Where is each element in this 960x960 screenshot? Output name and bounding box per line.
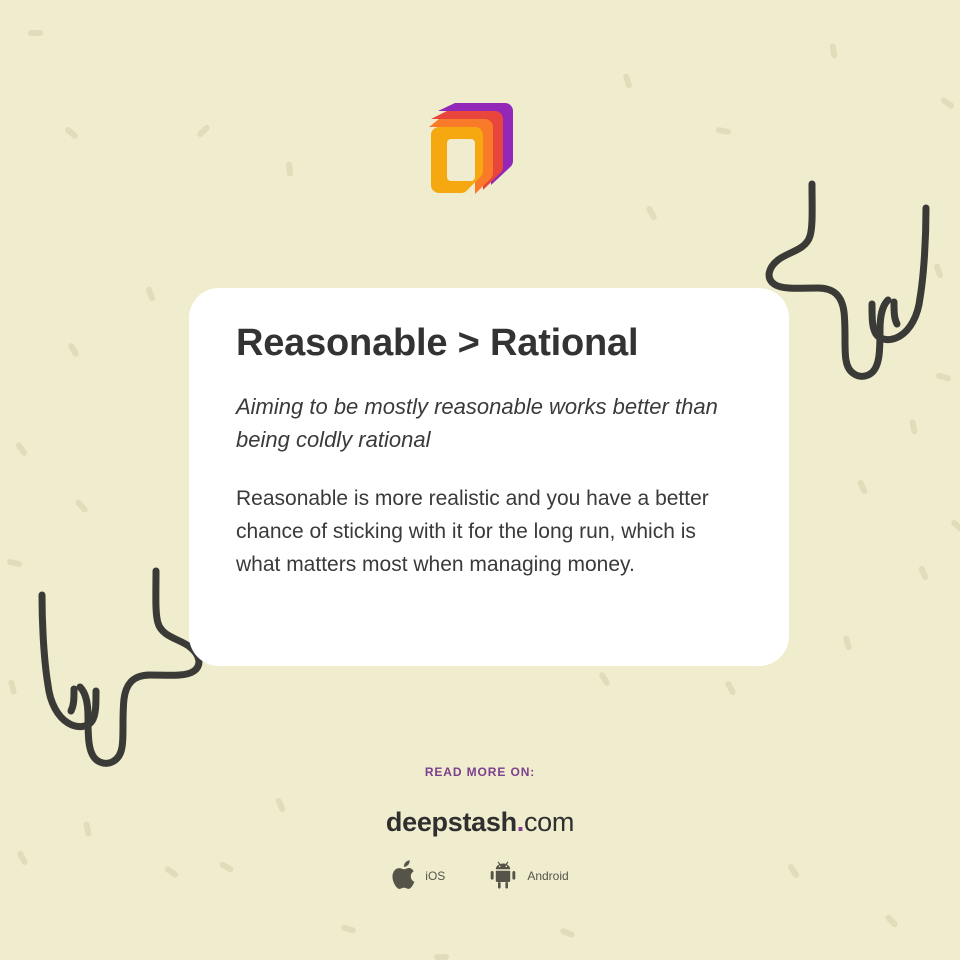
android-label: Android: [527, 869, 568, 883]
background-speck: [843, 635, 853, 651]
pointing-hand-outline-icon: [28, 565, 208, 777]
android-icon: [487, 860, 519, 892]
background-speck: [857, 479, 869, 495]
background-speck: [645, 205, 658, 221]
footer: READ MORE ON: deepstash.com iOS: [0, 765, 960, 892]
background-speck: [286, 161, 293, 176]
background-speck: [434, 954, 449, 960]
android-store-badge[interactable]: Android: [487, 860, 568, 892]
background-speck: [884, 914, 899, 929]
background-speck: [933, 263, 944, 279]
apple-icon: [391, 860, 417, 892]
background-speck: [909, 419, 918, 435]
background-speck: [918, 565, 929, 581]
deepstash-wordmark[interactable]: deepstash.com: [0, 807, 960, 838]
background-speck: [7, 559, 23, 568]
idea-card: Reasonable > Rational Aiming to be mostl…: [189, 288, 789, 666]
background-speck: [64, 126, 79, 140]
background-speck: [716, 127, 732, 136]
background-speck: [74, 498, 88, 513]
background-speck: [15, 441, 29, 457]
background-speck: [196, 124, 211, 139]
deepstash-logo: [429, 103, 515, 197]
background-speck: [28, 30, 43, 36]
ios-label: iOS: [425, 869, 445, 883]
background-speck: [340, 924, 356, 934]
wordmark-tld: com: [524, 807, 574, 837]
background-speck: [940, 96, 956, 110]
card-subtitle: Aiming to be mostly reasonable works bet…: [236, 390, 726, 456]
ios-store-badge[interactable]: iOS: [391, 860, 445, 892]
card-title: Reasonable > Rational: [236, 322, 742, 366]
store-badges: iOS An: [0, 860, 960, 892]
background-speck: [950, 519, 960, 533]
background-speck: [8, 679, 18, 695]
background-speck: [829, 43, 838, 59]
background-speck: [935, 372, 951, 382]
background-speck: [67, 342, 80, 358]
wordmark-name: deepstash: [386, 807, 517, 837]
background-speck: [598, 671, 611, 687]
background-speck: [559, 927, 575, 938]
background-speck: [622, 73, 632, 89]
background-speck: [724, 680, 736, 696]
wordmark-dot: .: [517, 807, 524, 837]
card-body-text: Reasonable is more realistic and you hav…: [236, 482, 742, 582]
poster-canvas: Reasonable > Rational Aiming to be mostl…: [0, 0, 960, 960]
read-more-label: READ MORE ON:: [0, 765, 960, 779]
background-speck: [145, 286, 156, 302]
